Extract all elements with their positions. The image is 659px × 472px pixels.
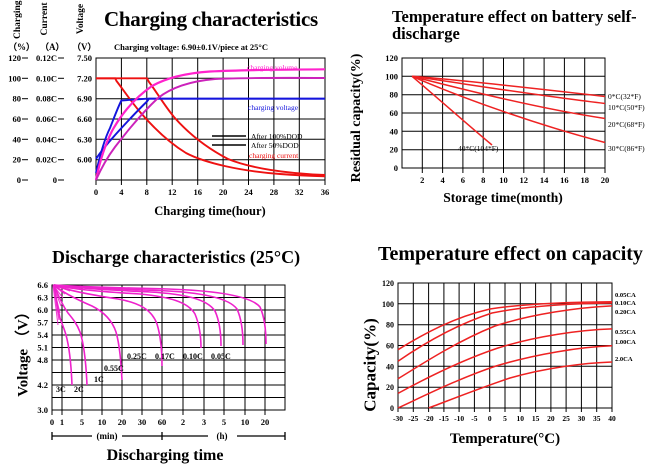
cap-xtick-0: 0 [488, 414, 492, 423]
cap-xtick--20: -20 [424, 414, 434, 423]
sd-series-label-40c: 40*C(104*F) [458, 144, 499, 153]
cap-ytick-120: 120 [382, 279, 394, 288]
ytick-v-750: 7.50 [77, 53, 92, 63]
sd-xtick-16: 16 [560, 175, 569, 185]
xtick-36: 36 [321, 187, 330, 197]
discharge-xlabel: Discharging time [107, 447, 224, 464]
cap-xtick--5: -5 [471, 414, 477, 423]
ytick-v-600: 6.00 [77, 155, 92, 165]
chart-charging-title: Charging characteristics [104, 8, 318, 30]
ytick-pct-40: 40 [13, 134, 22, 144]
chart-charging-characteristics: Charging characteristics Charging voltag… [0, 0, 340, 230]
cap-ytick-100: 100 [382, 300, 394, 309]
dc-ytick-48: 4.8 [37, 355, 48, 365]
ytick-pct-0: 0 [17, 175, 21, 185]
dc-label-025c: 0.25C [127, 352, 147, 361]
dc-xtick-60: 60 [158, 417, 167, 427]
sd-series-label-30c: 30*C(86*F) [608, 144, 645, 153]
sd-series-label-0c: 0*C(32*F) [608, 92, 641, 101]
capacity-xlabel: Temperature(°C) [450, 431, 560, 447]
dc-ytick-54: 5.4 [37, 330, 48, 340]
legend-after-100dod: After 100%DOD [251, 132, 303, 141]
sd-ytick-60: 60 [390, 108, 399, 118]
chart-discharge-characteristics: Discharge characteristics (25°C) Voltage… [0, 230, 340, 472]
cap-xtick-10: 10 [517, 414, 525, 423]
chart-capacity-title: Temperature effect on capacity [378, 244, 643, 265]
sd-xtick-20: 20 [601, 175, 610, 185]
dc-xtick-5: 5 [80, 417, 84, 427]
capacity-plot: 120 100 80 60 40 20 0 0.05CA 0.10CA 0.20… [340, 278, 659, 468]
cap-xtick--30: -30 [393, 414, 403, 423]
sd-series-label-20c: 20*C(68*F) [608, 120, 645, 129]
ytick-v-630: 6.30 [77, 134, 92, 144]
sd-series-label-10c: 10*C(50*F) [608, 103, 645, 112]
cap-ytick-60: 60 [386, 342, 394, 351]
cap-xtick-20: 20 [547, 414, 555, 423]
xtick-20: 20 [219, 187, 228, 197]
dc-xtick-2h: 2 [181, 417, 185, 427]
axis-caption-voltage: Voltage [76, 0, 86, 42]
axis-caption-current: Current [40, 0, 50, 42]
dc-label-010c: 0.10C [183, 352, 203, 361]
ytick-pct-120: 120 [8, 53, 21, 63]
ytick-v-660: 6.60 [77, 114, 92, 124]
xtick-8: 8 [145, 187, 149, 197]
sd-ytick-120: 120 [385, 53, 398, 63]
cap-label-005ca: 0.05CA [615, 292, 636, 299]
dc-xtick-3h: 3 [202, 417, 206, 427]
dc-xtick-10: 10 [98, 417, 107, 427]
axis-unit-percent: （%） [8, 40, 35, 53]
xtick-28: 28 [270, 187, 279, 197]
discharge-plot: 6.6 6.3 6.0 5.7 5.4 5.1 4.8 4.2 3.0 [0, 280, 340, 465]
dc-ytick-51: 5.1 [37, 343, 48, 353]
sd-xtick-2: 2 [420, 175, 424, 185]
dc-xtick-1: 1 [60, 417, 64, 427]
xtick-32: 32 [295, 187, 304, 197]
charging-plot: 120 100 80 60 40 20 0 0.12C 0.10C 0.08C … [0, 55, 340, 230]
cap-xtick-5: 5 [503, 414, 507, 423]
ytick-pct-80: 80 [13, 94, 22, 104]
dc-label-017c: 0.17C [155, 352, 175, 361]
cap-label-100ca: 1.00CA [615, 339, 636, 346]
cap-xtick--15: -15 [439, 414, 449, 423]
xtick-24: 24 [244, 187, 253, 197]
selfdischarge-plot: 120 100 80 60 40 20 0 0*C(32*F) 10*C(50*… [340, 55, 659, 205]
curve-label-charging-volume: charging volume [247, 63, 298, 72]
sd-ytick-80: 80 [390, 90, 399, 100]
dc-label-005c: 0.05C [211, 352, 231, 361]
charging-xlabel: Charging time(hour) [154, 204, 265, 218]
ytick-v-720: 7.20 [77, 73, 92, 83]
dc-xtick-30: 30 [138, 417, 147, 427]
dc-ytick-60: 6.0 [37, 305, 48, 315]
dc-xtick-5h: 5 [222, 417, 226, 427]
dc-xtick-10h: 10 [241, 417, 250, 427]
sd-xtick-8: 8 [481, 175, 485, 185]
sd-xtick-18: 18 [580, 175, 589, 185]
dc-xtick-20h: 20 [261, 417, 270, 427]
sd-ytick-0: 0 [394, 163, 398, 173]
ytick-cur-002: 0.02C [36, 155, 57, 165]
chart-discharge-title: Discharge characteristics (25°C) [52, 248, 300, 267]
ytick-cur-006: 0.06C [36, 114, 57, 124]
ytick-cur-008: 0.08C [36, 94, 57, 104]
axis-caption-charging-volume: Charging Volume [13, 0, 23, 39]
cap-ytick-80: 80 [386, 321, 394, 330]
cap-label-010ca: 0.10CA [615, 300, 636, 307]
ytick-pct-60: 60 [13, 114, 22, 124]
cap-xtick--25: -25 [408, 414, 418, 423]
cap-xtick-15: 15 [532, 414, 540, 423]
cap-ytick-0: 0 [390, 404, 394, 413]
chart-temperature-capacity: Temperature effect on capacity Capacity(… [340, 230, 659, 472]
ytick-v-690: 6.90 [77, 94, 92, 104]
sd-xtick-4: 4 [440, 175, 445, 185]
dc-label-1c: 1C [94, 375, 104, 384]
dc-label-2c: 2C [74, 385, 84, 394]
ytick-cur-010: 0.10C [36, 73, 57, 83]
cap-label-055ca: 0.55CA [615, 329, 636, 336]
cap-ytick-40: 40 [386, 362, 394, 371]
axis-unit-ampere: （A） [40, 40, 65, 53]
sd-xtick-12: 12 [520, 175, 529, 185]
ytick-cur-0: 0 [53, 175, 57, 185]
cap-xtick-30: 30 [578, 414, 586, 423]
cap-xtick-25: 25 [562, 414, 570, 423]
dc-ytick-42: 4.2 [37, 380, 48, 390]
cap-xtick-40: 40 [608, 414, 616, 423]
cap-xtick-35: 35 [593, 414, 601, 423]
cap-label-20ca: 2.0CA [615, 356, 633, 363]
dc-unit-h: (h) [217, 431, 228, 441]
chart-charging-subtitle: Charging voltage: 6.90±0.1V/piece at 25°… [114, 42, 268, 52]
dc-label-3c: 3C [56, 385, 66, 394]
dc-unit-min: (min) [97, 431, 118, 441]
chart-self-discharge: Temperature effect on battery self-disch… [340, 0, 659, 230]
ytick-pct-20: 20 [13, 155, 22, 165]
sd-ytick-100: 100 [385, 71, 398, 81]
dc-ytick-30: 3.0 [37, 405, 48, 415]
dc-ytick-57: 5.7 [37, 318, 48, 328]
ytick-pct-100: 100 [8, 73, 21, 83]
cap-ytick-20: 20 [386, 383, 394, 392]
xtick-16: 16 [193, 187, 202, 197]
cap-label-020ca: 0.20CA [615, 309, 636, 316]
cap-xtick--10: -10 [454, 414, 464, 423]
sd-ytick-40: 40 [390, 126, 399, 136]
sd-ytick-20: 20 [390, 145, 399, 155]
dc-ytick-63: 6.3 [37, 293, 48, 303]
xtick-4: 4 [119, 187, 124, 197]
dc-xtick-0: 0 [50, 417, 54, 427]
xtick-12: 12 [168, 187, 177, 197]
sd-xtick-14: 14 [540, 175, 549, 185]
dc-label-055c: 0.55C [104, 364, 124, 373]
dc-ytick-66: 6.6 [37, 280, 48, 290]
ytick-cur-012: 0.12C [36, 53, 57, 63]
sd-xtick-10: 10 [499, 175, 508, 185]
curve-label-charging-current: charging current [249, 151, 299, 160]
legend-after-50dod: After 50%DOD [251, 141, 299, 150]
axis-unit-volt: （V） [72, 40, 97, 53]
curve-label-charging-voltage: charging voltage [248, 103, 299, 112]
sd-xtick-6: 6 [461, 175, 465, 185]
chart-selfdischarge-title: Temperature effect on battery self-disch… [392, 8, 642, 43]
xtick-0: 0 [94, 187, 98, 197]
ytick-cur-004: 0.04C [36, 134, 57, 144]
dc-xtick-20: 20 [118, 417, 127, 427]
selfdischarge-xlabel: Storage time(month) [443, 190, 563, 205]
